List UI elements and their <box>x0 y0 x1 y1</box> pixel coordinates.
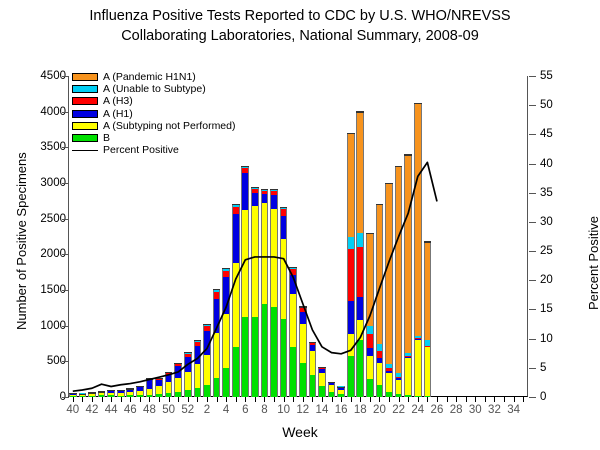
bar-segment <box>280 319 288 397</box>
x-axis-tick-mark <box>351 397 352 402</box>
x-axis-tick-mark <box>73 397 74 402</box>
x-axis-tick-mark <box>207 397 208 402</box>
bar-top-edge <box>232 204 240 205</box>
bar-top-edge <box>414 103 422 104</box>
bar-segment <box>395 380 403 394</box>
bar-top-edge <box>165 372 173 373</box>
bar-column[interactable] <box>299 307 307 397</box>
bar-top-edge <box>347 133 355 134</box>
bar-segment <box>376 351 384 358</box>
x-axis-tick-mark <box>427 397 428 402</box>
x-axis-tick-label: 6 <box>242 404 248 416</box>
bar-column[interactable] <box>356 112 364 397</box>
x-axis-tick-label: 8 <box>261 404 267 416</box>
x-axis-tick-mark <box>245 397 246 402</box>
bar-column[interactable] <box>280 207 288 397</box>
x-axis-tick-label: 24 <box>411 404 424 416</box>
bar-column[interactable] <box>414 103 422 397</box>
y-axis-tick-mark-right <box>529 368 536 369</box>
y-axis-tick-mark-right <box>529 397 536 398</box>
x-axis-tick-mark <box>111 397 112 402</box>
x-axis-tick-mark <box>159 397 160 402</box>
chart-title-line-2: Collaborating Laboratories, National Sum… <box>0 26 600 46</box>
bar-segment <box>376 385 384 397</box>
bar-segment <box>404 155 412 353</box>
bar-top-edge <box>251 187 259 188</box>
chart-legend: A (Pandemic H1N1)A (Unable to Subtype)A … <box>72 71 262 156</box>
y-axis-tick-mark-right <box>529 105 536 106</box>
bar-segment <box>385 364 393 368</box>
bar-segment <box>213 299 221 333</box>
y-axis-tick-label-right: 10 <box>540 333 553 345</box>
x-axis-tick-mark <box>523 397 524 402</box>
bar-segment <box>366 326 374 334</box>
x-axis-tick-mark <box>341 397 342 402</box>
bar-column[interactable] <box>261 189 269 397</box>
x-axis-tick-label: 10 <box>277 404 290 416</box>
bar-segment <box>280 239 288 319</box>
bar-column[interactable] <box>126 389 134 397</box>
bar-segment <box>261 203 269 304</box>
x-axis-tick-mark <box>82 397 83 402</box>
bar-segment <box>337 388 345 389</box>
x-axis-tick-label: 32 <box>488 404 501 416</box>
bar-segment <box>88 394 96 396</box>
x-axis-tick-mark <box>312 397 313 402</box>
bar-column[interactable] <box>146 379 154 397</box>
legend-item-label: Percent Positive <box>103 145 179 155</box>
x-axis-tick-mark <box>379 397 380 402</box>
bar-segment <box>395 166 403 374</box>
x-axis-tick-mark <box>389 397 390 402</box>
y-axis-tick-label-right: 20 <box>540 274 553 286</box>
x-axis-tick-mark <box>437 397 438 402</box>
x-axis-tick-label: 44 <box>105 404 118 416</box>
y-axis-tick-label-right: 5 <box>540 362 546 374</box>
bar-segment <box>385 373 393 392</box>
bar-segment <box>146 380 154 389</box>
y-axis-tick-label-right: 0 <box>540 391 546 403</box>
bar-segment <box>165 375 173 383</box>
y-axis-tick-mark-right <box>529 309 536 310</box>
bar-segment <box>184 354 192 357</box>
y-axis-tick-mark-left <box>62 183 69 184</box>
bar-segment <box>309 343 317 345</box>
bar-segment <box>385 371 393 373</box>
bar-column[interactable] <box>347 133 355 397</box>
bar-column[interactable] <box>424 242 432 398</box>
bar-top-edge <box>270 189 278 190</box>
bar-segment <box>194 364 202 388</box>
x-axis-tick-label: 16 <box>335 404 348 416</box>
bar-top-edge <box>155 378 163 379</box>
bar-segment <box>222 314 230 368</box>
bar-segment <box>79 395 87 396</box>
legend-line-marker <box>72 150 98 151</box>
bar-top-edge <box>280 207 288 208</box>
chart-title-line-1: Influenza Positive Tests Reported to CDC… <box>0 6 600 26</box>
bar-segment <box>376 204 384 344</box>
bar-segment <box>174 364 182 366</box>
legend-item-label: A (H3) <box>103 96 133 106</box>
bar-column[interactable] <box>309 342 317 397</box>
x-axis-tick-label: 18 <box>354 404 367 416</box>
bar-segment <box>299 312 307 324</box>
legend-item-label: A (Subtyping not Performed) <box>103 121 236 131</box>
y-axis-tick-label-right: 45 <box>540 128 553 140</box>
bar-top-edge <box>318 367 326 368</box>
legend-item-label: B <box>103 133 110 143</box>
bar-segment <box>261 191 269 194</box>
y-axis-tick-mark-right <box>529 222 536 223</box>
bar-column[interactable] <box>194 340 202 397</box>
bar-segment <box>270 195 278 209</box>
bar-segment <box>424 347 432 396</box>
bar-top-edge <box>222 268 230 269</box>
legend-item-label: A (H1) <box>103 109 133 119</box>
bar-segment <box>251 206 259 317</box>
y-axis-tick-label-right: 55 <box>540 70 553 82</box>
bar-segment <box>280 209 288 215</box>
bar-segment <box>309 375 317 397</box>
x-axis-tick-mark <box>418 397 419 402</box>
x-axis-tick-label: 48 <box>143 404 156 416</box>
bar-segment <box>136 387 144 390</box>
legend-color-swatch <box>72 110 98 118</box>
bar-segment <box>356 340 364 397</box>
bar-segment <box>385 368 393 371</box>
y-axis-tick-mark-right <box>529 193 536 194</box>
bar-segment <box>165 373 173 375</box>
y-axis-tick-mark-left <box>62 219 69 220</box>
x-axis-tick-mark <box>332 397 333 402</box>
bar-top-edge <box>356 111 364 112</box>
legend-item: A (Subtyping not Performed) <box>72 120 262 132</box>
bar-top-edge <box>261 189 269 190</box>
bar-top-edge <box>136 386 144 387</box>
bar-top-edge <box>289 267 297 268</box>
y-axis-tick-mark-left <box>62 326 69 327</box>
x-axis-tick-mark <box>370 397 371 402</box>
bar-column[interactable] <box>404 155 412 397</box>
bar-segment <box>404 356 412 357</box>
x-axis-tick-mark <box>475 397 476 402</box>
bar-segment <box>107 393 115 395</box>
y-axis-tick-label-right: 15 <box>540 303 553 315</box>
x-axis-tick-mark <box>485 397 486 402</box>
bar-segment <box>289 269 297 275</box>
x-axis-tick-mark <box>217 397 218 402</box>
bar-segment <box>213 292 221 299</box>
bar-column[interactable] <box>203 324 211 397</box>
x-axis-tick-label: 34 <box>507 404 520 416</box>
bar-top-edge <box>337 387 345 388</box>
bar-segment <box>126 390 134 392</box>
x-axis-tick-mark <box>178 397 179 402</box>
bar-column[interactable] <box>136 386 144 397</box>
bar-segment <box>251 189 259 193</box>
bar-column[interactable] <box>289 267 297 397</box>
bar-segment <box>232 207 240 214</box>
bar-segment <box>155 386 163 394</box>
bar-top-edge <box>88 392 96 393</box>
y-axis-tick-mark-right <box>529 280 536 281</box>
bar-segment <box>241 210 249 317</box>
bar-segment <box>203 385 211 397</box>
x-axis-tick-mark <box>121 397 122 402</box>
bar-segment <box>328 383 336 385</box>
legend-item: A (Unable to Subtype) <box>72 83 262 95</box>
bar-segment <box>337 390 345 394</box>
x-axis-tick-mark <box>226 397 227 402</box>
bar-segment <box>395 373 403 376</box>
bar-segment <box>299 308 307 312</box>
x-axis-tick-mark <box>92 397 93 402</box>
bar-column[interactable] <box>395 166 403 397</box>
y-axis-tick-mark-left <box>62 397 69 398</box>
bar-segment <box>424 340 432 346</box>
bar-top-edge <box>174 363 182 364</box>
x-axis-tick-mark <box>169 397 170 402</box>
bar-top-edge <box>79 394 87 395</box>
bar-segment <box>270 209 278 307</box>
x-axis-tick-label: 42 <box>86 404 99 416</box>
bar-top-edge <box>69 393 77 394</box>
bar-segment <box>232 263 240 347</box>
bar-top-edge <box>194 340 202 341</box>
bar-segment <box>395 378 403 379</box>
bar-column[interactable] <box>165 372 173 397</box>
bar-segment <box>356 297 364 320</box>
bar-top-edge <box>299 306 307 307</box>
bar-segment <box>213 378 221 397</box>
bar-segment <box>376 344 384 350</box>
bar-segment <box>404 357 412 358</box>
bar-segment <box>376 358 384 363</box>
x-axis-tick-mark <box>494 397 495 402</box>
x-axis-tick-mark <box>140 397 141 402</box>
x-axis-tick-label: 50 <box>162 404 175 416</box>
bar-segment <box>414 336 422 338</box>
bar-column[interactable] <box>251 187 259 397</box>
y-axis-tick-mark-left <box>62 254 69 255</box>
x-axis-tick-label: 46 <box>124 404 137 416</box>
bar-segment <box>251 193 259 206</box>
x-axis-tick-label: 20 <box>373 404 386 416</box>
bar-segment <box>289 347 297 397</box>
bar-top-edge <box>395 166 403 167</box>
y-axis-tick-mark-left <box>62 290 69 291</box>
bar-column[interactable] <box>328 382 336 397</box>
y-axis-tick-label-right: 40 <box>540 158 553 170</box>
bar-segment <box>280 216 288 239</box>
bar-column[interactable] <box>337 387 345 397</box>
x-axis-label: Week <box>0 424 600 440</box>
bar-segment <box>356 247 364 297</box>
bar-segment <box>261 304 269 397</box>
bar-segment <box>174 378 182 392</box>
bar-top-edge <box>241 166 249 167</box>
bar-segment <box>366 379 374 397</box>
bar-segment <box>117 391 125 393</box>
x-axis-tick-mark <box>293 397 294 402</box>
x-axis-tick-mark <box>102 397 103 402</box>
bar-segment <box>117 393 125 395</box>
bar-segment <box>241 168 249 173</box>
bar-top-edge <box>424 241 432 242</box>
bar-segment <box>155 380 163 386</box>
bar-segment <box>424 242 432 340</box>
x-axis-tick-label: 22 <box>392 404 405 416</box>
bar-segment <box>107 391 115 392</box>
y-axis-tick-mark-left <box>62 147 69 148</box>
x-axis-tick-label: 26 <box>431 404 444 416</box>
bar-segment <box>165 382 173 393</box>
x-axis-tick-label: 40 <box>66 404 79 416</box>
bar-column[interactable] <box>241 166 249 397</box>
bar-segment <box>194 388 202 397</box>
x-axis-tick-mark <box>514 397 515 402</box>
x-axis-tick-mark <box>236 397 237 402</box>
legend-item-label: A (Unable to Subtype) <box>103 84 206 94</box>
bar-segment <box>414 340 422 396</box>
bar-segment <box>136 391 144 395</box>
bar-segment <box>184 357 192 372</box>
bar-column[interactable] <box>232 204 240 397</box>
y-axis-tick-mark-left <box>62 112 69 113</box>
bar-segment <box>184 390 192 397</box>
bar-top-edge <box>376 204 384 205</box>
legend-item: A (H1) <box>72 108 262 120</box>
bar-column[interactable] <box>376 204 384 397</box>
bar-column[interactable] <box>270 189 278 397</box>
bar-top-edge <box>213 289 221 290</box>
x-axis-tick-mark <box>399 397 400 402</box>
bar-segment <box>395 377 403 379</box>
bar-top-edge <box>146 378 154 379</box>
bar-segment <box>146 389 154 395</box>
bar-segment <box>347 249 355 300</box>
bar-segment <box>194 342 202 346</box>
y-axis-tick-label-right: 35 <box>540 187 553 199</box>
bar-segment <box>289 275 297 294</box>
x-axis-tick-mark <box>504 397 505 402</box>
bar-segment <box>366 334 374 348</box>
bar-column[interactable] <box>366 233 374 397</box>
bar-segment <box>404 358 412 395</box>
legend-item-label: A (Pandemic H1N1) <box>103 72 196 82</box>
bar-segment <box>222 271 230 277</box>
x-axis-tick-mark <box>360 397 361 402</box>
bar-segment <box>328 385 336 391</box>
bar-column[interactable] <box>174 363 182 397</box>
bar-segment <box>385 183 393 364</box>
bar-segment <box>347 334 355 355</box>
x-axis-tick-label: 14 <box>316 404 329 416</box>
bar-top-edge <box>309 342 317 343</box>
bar-top-edge <box>117 390 125 391</box>
bar-segment <box>309 345 317 351</box>
bar-top-edge <box>328 382 336 383</box>
bar-segment <box>366 348 374 357</box>
bar-segment <box>356 320 364 340</box>
bar-segment <box>222 277 230 314</box>
chart-title: Influenza Positive Tests Reported to CDC… <box>0 6 600 46</box>
bar-segment <box>356 112 364 233</box>
bar-column[interactable] <box>213 289 221 397</box>
y-axis-tick-mark-left <box>62 76 69 77</box>
bar-segment <box>289 294 297 348</box>
x-axis-tick-label: 4 <box>223 404 229 416</box>
bar-column[interactable] <box>318 367 326 397</box>
bar-segment <box>366 233 374 326</box>
x-axis-tick-mark <box>255 397 256 402</box>
bar-segment <box>126 392 134 395</box>
x-axis-tick-mark <box>322 397 323 402</box>
y-axis-tick-mark-right <box>529 251 536 252</box>
bar-top-edge <box>203 324 211 325</box>
bar-column[interactable] <box>184 352 192 397</box>
bar-segment <box>414 103 422 336</box>
bar-segment <box>270 191 278 195</box>
legend-item: A (Pandemic H1N1) <box>72 71 262 83</box>
bar-column[interactable] <box>385 183 393 397</box>
x-axis-tick-mark <box>466 397 467 402</box>
x-axis-tick-mark <box>188 397 189 402</box>
bar-segment <box>174 366 182 377</box>
legend-item: A (H3) <box>72 95 262 107</box>
legend-color-swatch <box>72 97 98 105</box>
y-axis-tick-label-right: 50 <box>540 99 553 111</box>
y-axis-label-left: Number of Positive Specimens <box>14 152 29 330</box>
bar-segment <box>232 347 240 397</box>
legend-item: B <box>72 132 262 144</box>
bar-segment <box>347 301 355 335</box>
x-axis-tick-label: 52 <box>181 404 194 416</box>
y-axis-tick-mark-right <box>529 164 536 165</box>
bar-segment <box>318 373 326 386</box>
bar-segment <box>318 369 326 373</box>
bar-segment <box>203 331 211 355</box>
bar-column[interactable] <box>155 378 163 397</box>
x-axis-tick-label: 12 <box>296 404 309 416</box>
y-axis-tick-label-right: 25 <box>540 245 553 257</box>
bar-segment <box>347 237 355 250</box>
y-axis-tick-label-right: 30 <box>540 216 553 228</box>
bar-segment <box>203 326 211 331</box>
y-axis-tick-mark-left <box>62 361 69 362</box>
bar-segment <box>299 363 307 397</box>
bar-segment <box>194 346 202 365</box>
y-axis-tick-mark-right <box>529 76 536 77</box>
bar-segment <box>203 355 211 385</box>
bar-segment <box>261 194 269 203</box>
bar-segment <box>184 372 192 391</box>
bar-segment <box>376 363 384 385</box>
bar-column[interactable] <box>222 268 230 397</box>
bar-segment <box>270 307 278 397</box>
bar-segment <box>241 173 249 210</box>
bar-top-edge <box>126 388 134 389</box>
bar-segment <box>222 368 230 397</box>
x-axis-tick-mark <box>284 397 285 402</box>
x-axis-tick-mark <box>197 397 198 402</box>
x-axis-tick-label: 28 <box>450 404 463 416</box>
bar-top-edge <box>98 391 106 392</box>
y-axis-tick-mark-right <box>529 134 536 135</box>
bar-segment <box>347 133 355 236</box>
x-axis-tick-mark <box>149 397 150 402</box>
